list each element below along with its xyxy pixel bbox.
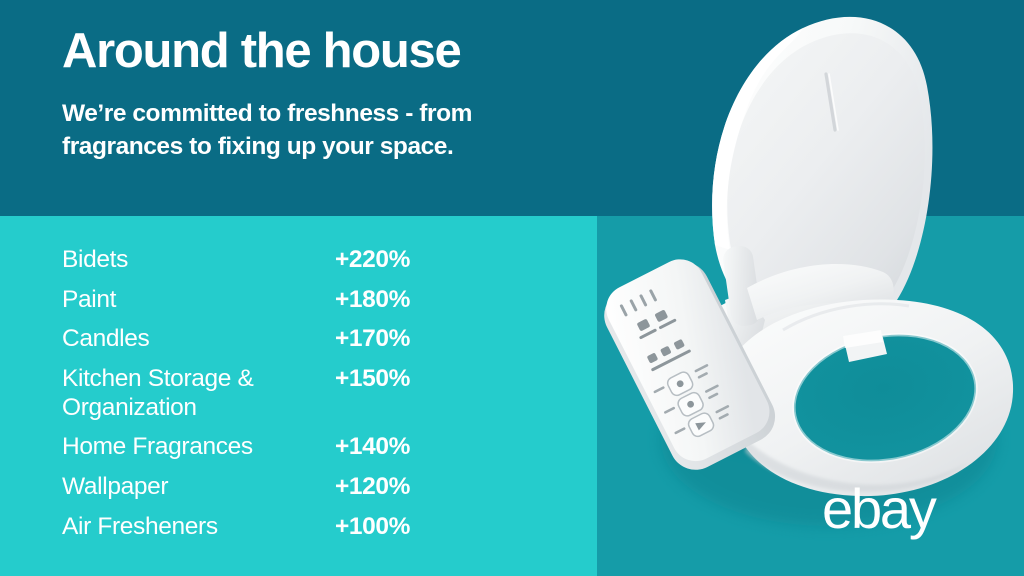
stat-value: +170% xyxy=(335,325,410,354)
list-item: Home Fragrances +140% xyxy=(62,433,482,462)
stat-value: +140% xyxy=(335,433,410,462)
stat-value: +100% xyxy=(335,513,410,542)
header-text-block: Around the house We’re committed to fres… xyxy=(62,26,582,163)
stat-label: Home Fragrances xyxy=(62,433,335,462)
stat-label: Bidets xyxy=(62,246,335,275)
stat-value: +180% xyxy=(335,286,410,315)
stats-list: Bidets +220% Paint +180% Candles +170% K… xyxy=(62,246,482,541)
stat-label: Candles xyxy=(62,325,335,354)
list-item: Candles +170% xyxy=(62,325,482,354)
stat-label: Air Fresheners xyxy=(62,513,335,542)
list-item: Bidets +220% xyxy=(62,246,482,275)
stat-label: Kitchen Storage & Organization xyxy=(62,365,335,422)
page-subtitle: We’re committed to freshness - from frag… xyxy=(62,98,582,163)
list-item: Kitchen Storage & Organization +150% xyxy=(62,365,482,422)
stat-label: Paint xyxy=(62,286,335,315)
infographic-canvas: Around the house We’re committed to fres… xyxy=(0,0,1024,576)
ebay-logo: ebay xyxy=(822,481,974,541)
stat-value: +120% xyxy=(335,473,410,502)
list-item: Wallpaper +120% xyxy=(62,473,482,502)
stat-label: Wallpaper xyxy=(62,473,335,502)
stat-value: +150% xyxy=(335,365,410,394)
ebay-wordmark: ebay xyxy=(822,481,937,540)
stat-value: +220% xyxy=(335,246,410,275)
list-item: Air Fresheners +100% xyxy=(62,513,482,542)
list-item: Paint +180% xyxy=(62,286,482,315)
page-title: Around the house xyxy=(62,26,582,77)
